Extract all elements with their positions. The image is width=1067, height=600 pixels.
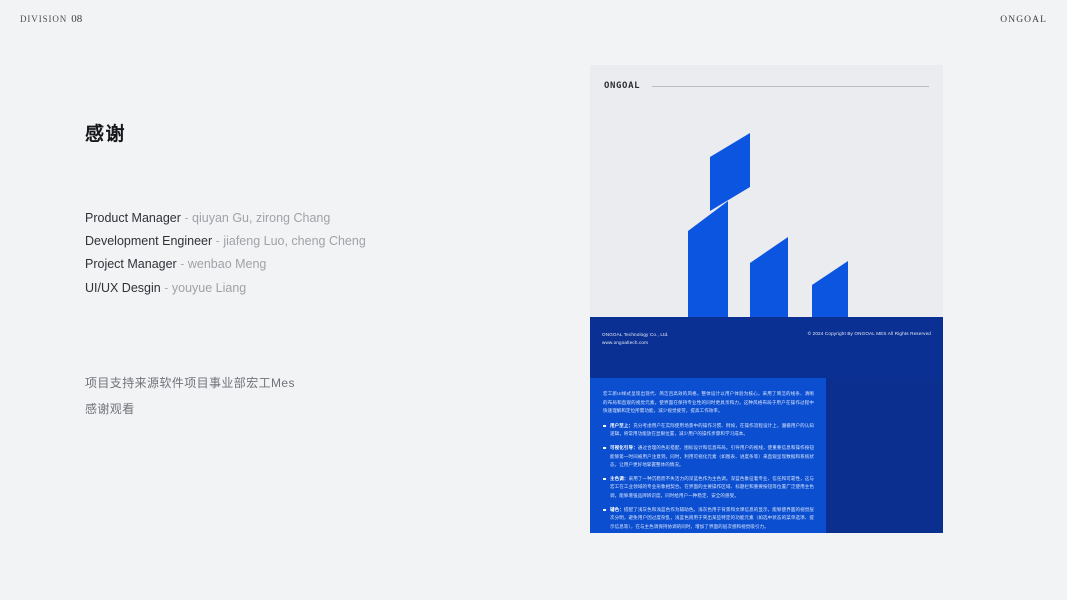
credit-separator: -: [180, 257, 184, 271]
brand-wordmark: ONGOAL: [1000, 15, 1047, 25]
footer-company-block: ONGOAL Technology Co., Ltd. www.ongoalte…: [602, 331, 669, 347]
bullet-text: 采用了一种沉稳而不失活力的深蓝色作为主色调。深蓝色象征着专业、信任和可靠性，这与…: [610, 476, 814, 498]
list-item: 用户至上：充分考虑用户在实际使用场景中的操作习惯、例如，在操作流程设计上，遵循用…: [603, 422, 814, 439]
credit-separator: -: [184, 211, 188, 225]
bullet-lead: 可视化引导：: [610, 445, 638, 450]
bullet-lead: 辅色：: [610, 507, 624, 512]
list-item: 主色调：采用了一种沉稳而不失活力的深蓝色作为主色调。深蓝色象征着专业、信任和可靠…: [603, 475, 814, 501]
description-intro: 宏工新UI样式呈现出现代、简洁且高效的风格。整体设计以用户体验为核心，采用了简洁…: [603, 390, 814, 416]
footer-copyright: © 2024 Copyright By ONGOAL MES All Right…: [808, 331, 931, 336]
bullet-lead: 主色调：: [610, 476, 629, 481]
footer-website[interactable]: www.ongoaltech.com: [602, 339, 669, 347]
division-word: DIVISION: [20, 14, 67, 24]
left-content-column: 感谢 Product Manager - qiuyan Gu, zirong C…: [85, 124, 515, 422]
bullet-lead: 用户至上：: [610, 423, 633, 428]
credit-names: jiafeng Luo, cheng Cheng: [223, 234, 365, 248]
credit-role: Product Manager: [85, 211, 181, 225]
bullet-text: 充分考虑用户在实际使用场景中的操作习惯、例如，在操作流程设计上，遵循用户的认知逻…: [610, 423, 814, 437]
mockup-card-footer: ONGOAL Technology Co., Ltd. www.ongoalte…: [590, 317, 943, 378]
credit-names: qiuyan Gu, zirong Chang: [192, 211, 330, 225]
bullet-text: 通过合理的色彩搭配、图标设计和信息布局，引导用户的视线，使重要信息和操作按钮能够…: [610, 445, 814, 467]
slide-division-label: DIVISION 08: [20, 13, 82, 25]
credit-row: UI/UX Desgin - youyue Liang: [85, 277, 515, 300]
credit-role: Development Engineer: [85, 234, 212, 248]
credit-row: Development Engineer - jiafeng Luo, chen…: [85, 230, 515, 253]
mockup-hero-card: ONGOAL: [590, 65, 943, 317]
ongoal-logo-text: ONGOAL: [604, 81, 640, 91]
closing-block: 项目支持来源软件项目事业部宏工Mes 感谢观看: [85, 370, 515, 422]
bullet-text: 搭配了浅灰色和浅蓝色作为辅助色。浅灰色用于背景和文课信息的显示，能够使界面的视觉…: [610, 507, 814, 529]
closing-line-source: 项目支持来源软件项目事业部宏工Mes: [85, 370, 515, 396]
mockup-description-panel: 宏工新UI样式呈现出现代、简洁且高效的风格。整体设计以用户体验为核心，采用了简洁…: [590, 378, 826, 533]
header-divider: [652, 86, 929, 87]
credit-role: Project Manager: [85, 257, 177, 271]
description-bullet-list: 用户至上：充分考虑用户在实际使用场景中的操作习惯、例如，在操作流程设计上，遵循用…: [603, 422, 814, 532]
footer-company-name: ONGOAL Technology Co., Ltd.: [602, 331, 669, 339]
credit-row: Project Manager - wenbao Meng: [85, 253, 515, 276]
list-item: 辅色：搭配了浅灰色和浅蓝色作为辅助色。浅灰色用于背景和文课信息的显示，能够使界面…: [603, 506, 814, 532]
division-number: 08: [71, 13, 82, 25]
credits-list: Product Manager - qiuyan Gu, zirong Chan…: [85, 207, 515, 300]
credit-row: Product Manager - qiuyan Gu, zirong Chan…: [85, 207, 515, 230]
ongoal-bar-logo-icon: [688, 125, 858, 317]
credit-names: youyue Liang: [172, 281, 246, 295]
credit-separator: -: [216, 234, 220, 248]
credit-names: wenbao Meng: [188, 257, 267, 271]
credit-separator: -: [164, 281, 168, 295]
product-mockup: ONGOAL ONGOAL Technology Co., Ltd. www.o…: [590, 65, 943, 533]
credit-role: UI/UX Desgin: [85, 281, 161, 295]
page-title: 感谢: [85, 124, 515, 147]
mockup-card-header: ONGOAL: [604, 79, 929, 93]
closing-line-thanks: 感谢观看: [85, 396, 515, 422]
list-item: 可视化引导：通过合理的色彩搭配、图标设计和信息布局，引导用户的视线，使重要信息和…: [603, 444, 814, 470]
